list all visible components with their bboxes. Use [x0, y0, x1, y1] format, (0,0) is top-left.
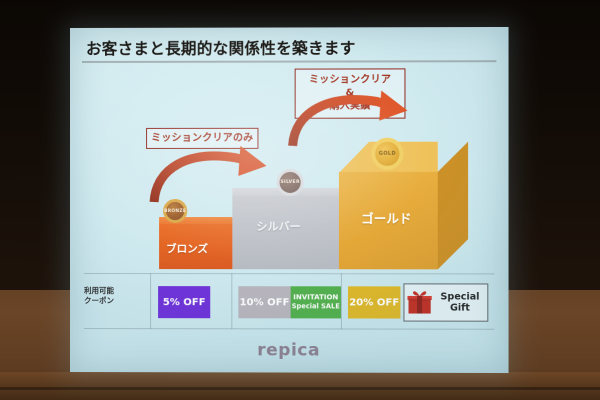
coupon-column-divider-1 [150, 273, 151, 329]
coupon-chip-special-gift-line2: Gift [450, 303, 470, 314]
gift-box-icon [406, 289, 432, 315]
gold-medal-label: GOLD [379, 151, 396, 157]
coupon-row-label: 利用可能 クーポン [84, 286, 114, 306]
table-surface [0, 372, 600, 400]
bronze-medal-label: BRONZE [164, 209, 186, 214]
coupon-row-label-line1: 利用可能 [84, 286, 114, 296]
coupon-chip-5-off-label: 5% OFF [163, 297, 206, 308]
callout-right-line1: ミッションクリア [309, 75, 391, 87]
callout-mission-only: ミッションクリアのみ [146, 128, 258, 149]
coupon-chip-special-gift-label: Special Gift [433, 291, 488, 314]
coupon-chip-special-gift: Special Gift [403, 283, 488, 321]
coupon-chip-special-gift-line1: Special [440, 291, 479, 302]
coupon-chip-invitation: INVITATION Special SALE [291, 286, 341, 318]
title-divider [82, 60, 496, 62]
coupon-band-bottom-rule [84, 328, 494, 330]
tier-label-gold: ゴールド [361, 208, 411, 227]
callout-mission-and-purchase: ミッションクリア & 購入実績 [295, 68, 406, 118]
coupon-chip-invitation-line2: Special SALE [292, 303, 340, 312]
coupon-chip-10-off-label: 10% OFF [240, 297, 290, 308]
silver-medal-icon: SILVER [277, 169, 304, 196]
coupon-chip-5-off: 5% OFF [158, 286, 210, 318]
coupon-chip-invitation-line1: INVITATION [293, 293, 338, 302]
coupon-band-top-rule [84, 273, 494, 274]
brand-logo: repica [70, 340, 509, 361]
callout-mission-only-label: ミッションクリアのみ [151, 132, 253, 144]
coupon-chip-10-off: 10% OFF [238, 286, 290, 318]
coupon-column-divider-3 [341, 273, 342, 329]
gold-cube-right-face [438, 142, 468, 270]
presentation-slide: お客さまと長期的な関係性を築きます ミッションクリアのみ ミッションクリア & … [70, 27, 509, 373]
gold-medal-icon: GOLD [371, 138, 403, 170]
coupon-chip-20-off-label: 20% OFF [349, 297, 399, 308]
coupon-chip-20-off: 20% OFF [348, 286, 400, 318]
table-edge-line [0, 387, 600, 390]
callout-right-line2: & [346, 88, 355, 100]
tier-label-bronze: ブロンズ [166, 241, 208, 256]
page-title: お客さまと長期的な関係性を築きます [86, 36, 356, 59]
tier-label-silver: シルバー [256, 218, 300, 234]
callout-right-line3: 購入実績 [329, 100, 370, 112]
projected-slide-photo: お客さまと長期的な関係性を築きます ミッションクリアのみ ミッションクリア & … [0, 0, 600, 400]
silver-medal-label: SILVER [280, 180, 299, 185]
coupon-column-divider-2 [231, 273, 232, 329]
coupon-row-label-line2: クーポン [84, 296, 114, 306]
bronze-medal-icon: BRONZE [163, 199, 187, 223]
